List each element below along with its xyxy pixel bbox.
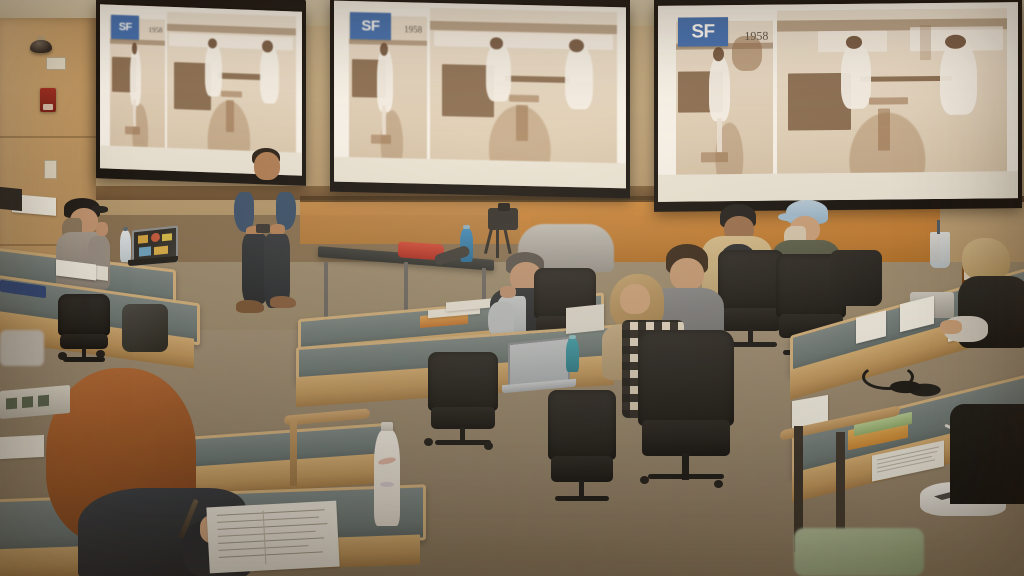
right-screen: SF 1958 — [654, 0, 1022, 212]
slide-year-label: 1958 — [744, 28, 768, 43]
chair — [428, 352, 498, 444]
notebook — [206, 501, 339, 574]
chair-large — [638, 330, 734, 480]
student-right-edge — [958, 238, 1024, 368]
water-bottle-teal — [566, 338, 579, 372]
slide-year-label: 1958 — [404, 24, 422, 34]
green-bag-foreground — [794, 528, 924, 576]
slide-year-label: 1958 — [148, 26, 162, 35]
monitor-left — [0, 187, 22, 211]
slide-center: SF 1958 — [334, 1, 626, 189]
iced-drink — [930, 232, 950, 268]
slide-logo: SF — [678, 17, 728, 47]
backpack — [122, 304, 168, 352]
coat-draped — [830, 250, 882, 306]
slide-logo-text: SF — [361, 18, 379, 33]
bag-grey — [0, 330, 44, 366]
water-bottle-marble — [374, 430, 400, 526]
slide-logo-text: SF — [691, 22, 714, 41]
presentation-clicker[interactable] — [256, 224, 270, 233]
paper-sheet — [0, 435, 44, 459]
water-bottle-clear — [120, 230, 131, 262]
slide-logo: SF — [111, 15, 139, 41]
wood-chair-mid — [284, 412, 370, 482]
center-screen: SF 1958 — [330, 0, 630, 198]
wall-outlet-icon — [46, 57, 66, 70]
dark-trousers — [950, 404, 1024, 504]
fire-alarm-strobe-icon — [40, 88, 56, 112]
chair — [548, 390, 616, 500]
slide-logo: SF — [350, 12, 391, 40]
slide-photo-panel-right — [430, 8, 617, 175]
slide-right: SF 1958 — [658, 2, 1018, 202]
slide-logo-text: SF — [119, 22, 132, 33]
hand — [96, 222, 108, 236]
slide-photo-panel-right — [167, 12, 296, 164]
hand — [940, 320, 962, 334]
light-switch-icon[interactable] — [44, 160, 57, 179]
cable-loop — [862, 364, 914, 390]
slide-photo-panel-right — [777, 8, 1007, 187]
lecture-hall-photo: SF 1958 — [0, 0, 1024, 576]
hand — [500, 286, 516, 298]
security-camera-icon — [30, 40, 52, 53]
presenter — [232, 148, 302, 328]
